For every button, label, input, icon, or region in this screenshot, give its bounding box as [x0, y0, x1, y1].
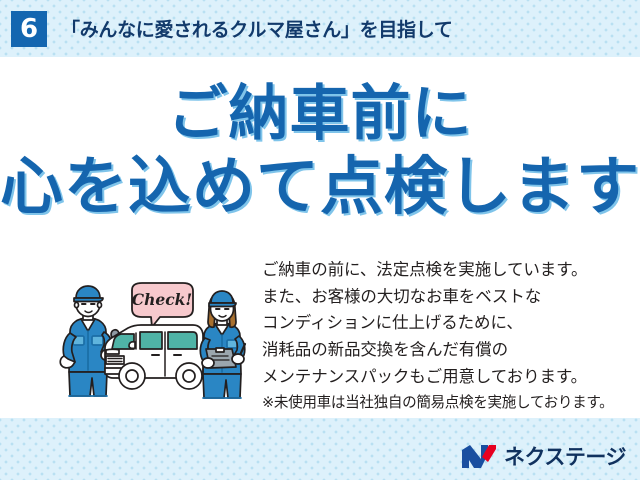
brand-logo: ネクステージ	[461, 441, 626, 471]
content-panel: ご納車前に 心を込めて点検します	[0, 57, 640, 418]
body-copy-note: ※未使用車は当社独自の簡易点検を実施しております。	[262, 391, 632, 415]
nexstage-n-icon	[461, 444, 497, 469]
section-number-badge: 6	[11, 11, 47, 47]
headline-line-2: 心を込めて点検します	[0, 150, 640, 223]
van-illustration	[105, 325, 203, 389]
body-copy-line-5: メンテナンスパックもご用意しております。	[262, 364, 632, 391]
body-copy: ご納車の前に、法定点検を実施しています。 また、お客様の大切なお車をベストな コ…	[262, 257, 632, 414]
body-copy-line-4: 消耗品の新品交換を含んだ有償の	[262, 337, 632, 364]
body-copy-line-3: コンディションに仕上げるために、	[262, 310, 632, 337]
header-title: 「みんなに愛されるクルマ屋さん」を目指して	[61, 15, 453, 42]
brand-name: ネクステージ	[504, 441, 626, 471]
body-copy-line-2: また、お客様の大切なお車をベストな	[262, 284, 632, 311]
female-mechanic-figure	[200, 291, 245, 398]
body-copy-line-1: ご納車の前に、法定点検を実施しています。	[262, 257, 632, 284]
mechanics-illustration: Check!	[56, 270, 266, 405]
promotional-banner: 6 「みんなに愛されるクルマ屋さん」を目指して ご納車前に 心を込めて点検します	[0, 0, 640, 480]
check-speech-bubble: Check!	[132, 283, 193, 327]
headline: ご納車前に 心を込めて点検します	[0, 80, 640, 223]
headline-line-1: ご納車前に	[0, 80, 640, 150]
speech-bubble-text: Check!	[132, 290, 192, 309]
banner-header: 6 「みんなに愛されるクルマ屋さん」を目指して	[0, 0, 640, 57]
